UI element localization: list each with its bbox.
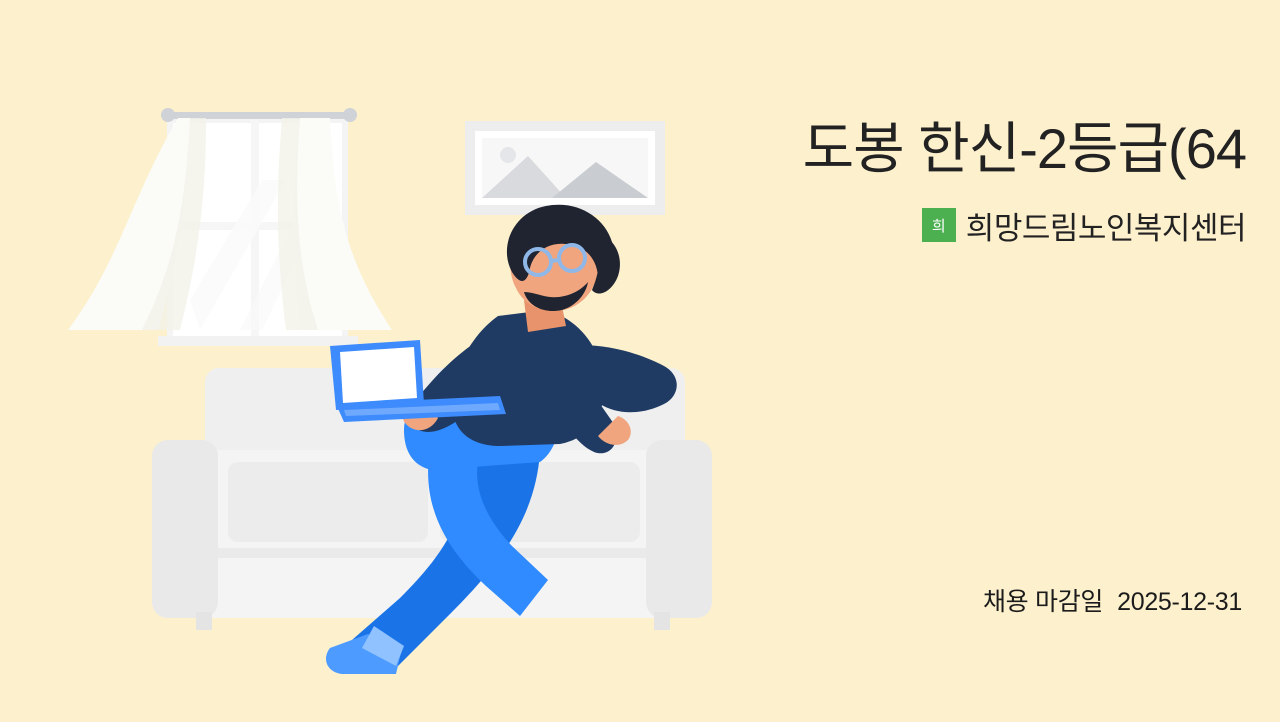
- deadline-date: 2025-12-31: [1117, 588, 1242, 616]
- company-row: 희 희망드림노인복지센터: [526, 203, 1246, 248]
- company-badge: 희: [922, 208, 956, 242]
- poster-text-block: 도봉 한신-2등급(64 희 희망드림노인복지센터: [526, 118, 1246, 248]
- illustration-man-with-laptop: [0, 0, 760, 722]
- job-poster: 도봉 한신-2등급(64 희 희망드림노인복지센터 채용 마감일2025-12-…: [0, 0, 1280, 722]
- company-name: 희망드림노인복지센터: [966, 203, 1246, 248]
- page-title: 도봉 한신-2등급(64: [526, 118, 1246, 181]
- deadline-row: 채용 마감일2025-12-31: [983, 582, 1242, 618]
- deadline-label: 채용 마감일: [983, 588, 1103, 616]
